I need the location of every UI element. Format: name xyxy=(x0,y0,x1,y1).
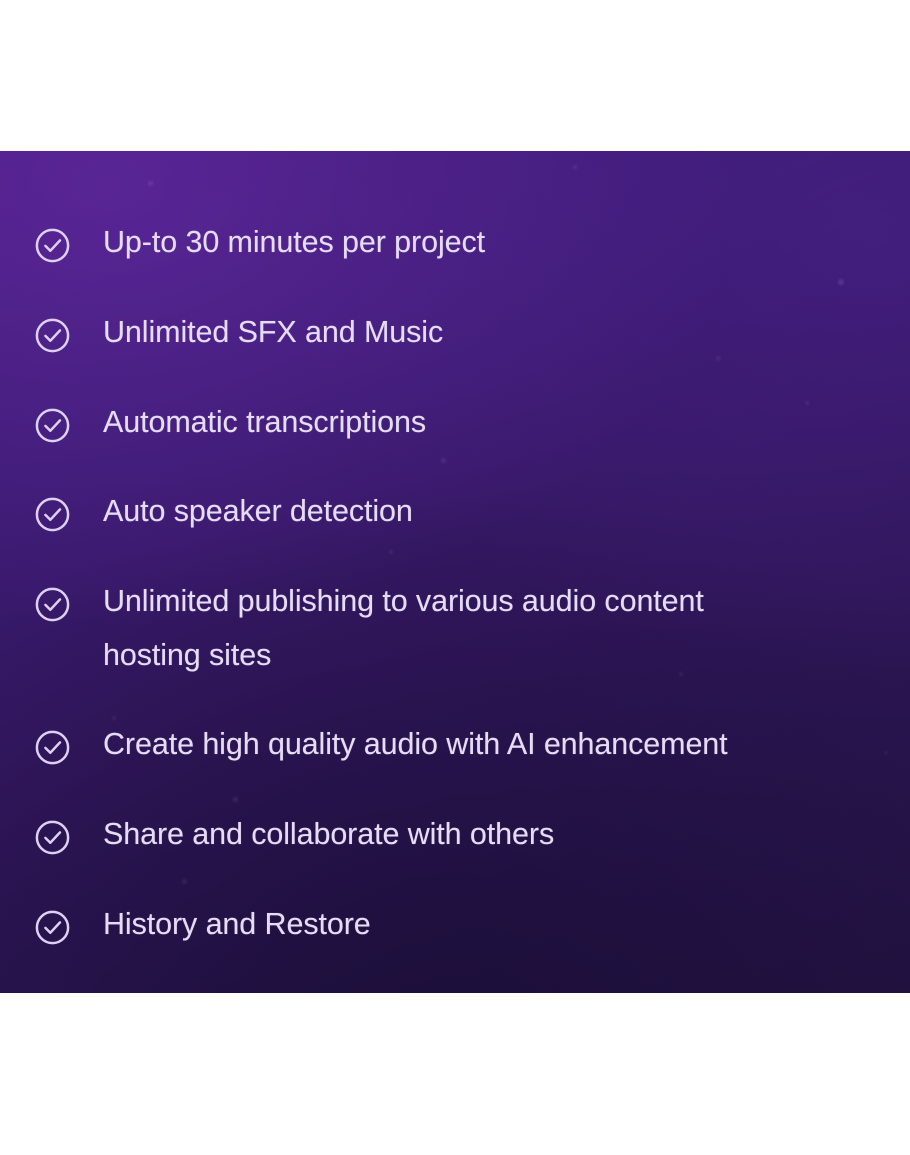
features-panel: Up-to 30 minutes per projectUnlimited SF… xyxy=(0,151,910,993)
feature-item: Share and collaborate with others xyxy=(34,818,884,861)
check-circle-icon xyxy=(34,586,71,623)
check-circle-icon xyxy=(34,227,71,264)
feature-label: Automatic transcriptions xyxy=(103,395,426,449)
check-circle-icon xyxy=(34,819,71,856)
check-circle-icon xyxy=(34,317,71,354)
feature-label: History and Restore xyxy=(103,897,371,951)
feature-label: Create high quality audio with AI enhanc… xyxy=(103,717,728,771)
feature-item: Up-to 30 minutes per project xyxy=(34,226,884,269)
feature-label: Auto speaker detection xyxy=(103,484,413,538)
check-circle-icon xyxy=(34,729,71,766)
feature-item: Unlimited SFX and Music xyxy=(34,316,884,359)
feature-label: Up-to 30 minutes per project xyxy=(103,215,485,269)
feature-item: History and Restore xyxy=(34,908,884,951)
feature-item: Create high quality audio with AI enhanc… xyxy=(34,728,884,771)
feature-item: Automatic transcriptions xyxy=(34,406,884,449)
feature-list: Up-to 30 minutes per projectUnlimited SF… xyxy=(0,151,910,993)
feature-label: Unlimited publishing to various audio co… xyxy=(103,574,704,682)
check-circle-icon xyxy=(34,496,71,533)
feature-item: Auto speaker detection xyxy=(34,495,884,538)
feature-item: Unlimited publishing to various audio co… xyxy=(34,585,884,682)
letterbox-band-top xyxy=(0,0,910,151)
feature-label: Share and collaborate with others xyxy=(103,807,554,861)
feature-list-screenshot: Up-to 30 minutes per projectUnlimited SF… xyxy=(0,0,910,1155)
feature-label: Unlimited SFX and Music xyxy=(103,305,443,359)
letterbox-band-bottom xyxy=(0,993,910,1155)
check-circle-icon xyxy=(34,909,71,946)
check-circle-icon xyxy=(34,407,71,444)
